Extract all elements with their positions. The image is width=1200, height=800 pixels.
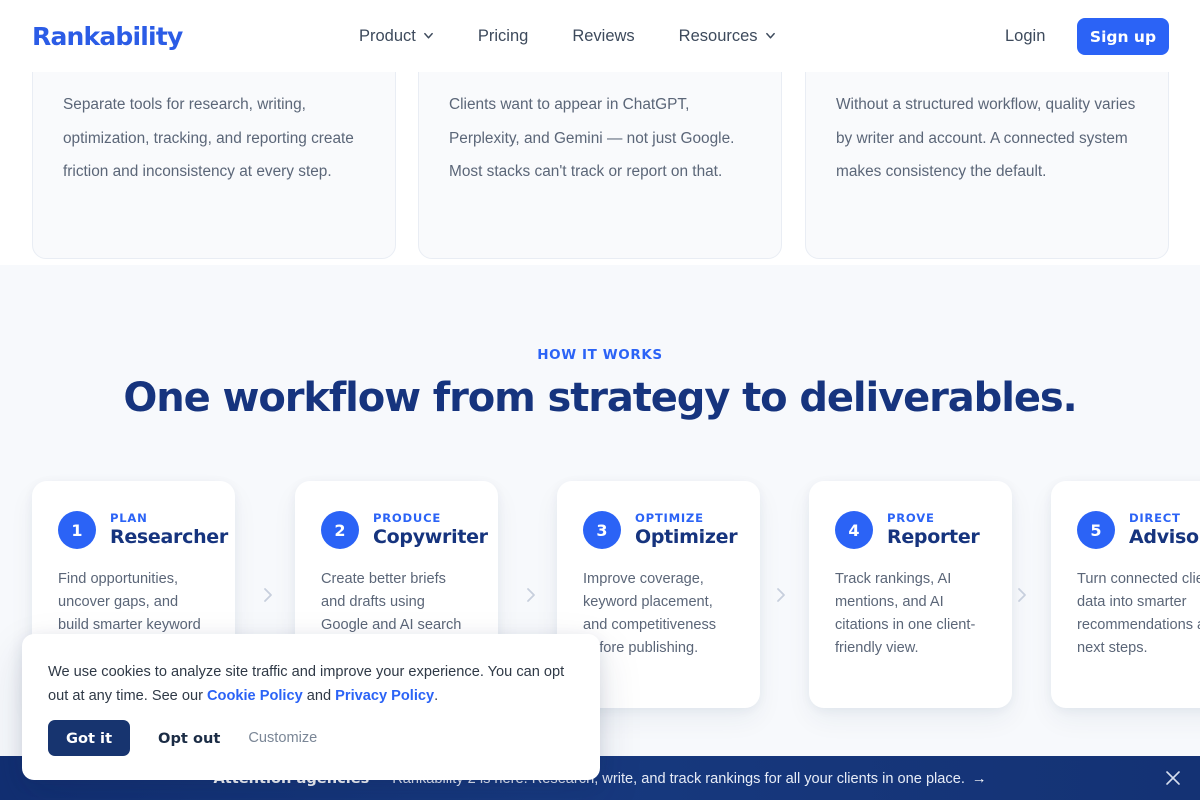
cookie-text-and: and <box>303 688 335 704</box>
site-header: Rankability Product Pricing Reviews Reso… <box>0 0 1200 72</box>
step-kicker: PROVE <box>887 513 979 525</box>
problem-card: Without a structured workflow, quality v… <box>805 72 1169 259</box>
problem-cards-section: Separate tools for research, writing, op… <box>0 72 1200 265</box>
cookie-consent-banner: We use cookies to analyze site traffic a… <box>22 634 600 780</box>
step-titles: DIRECT Advisor <box>1129 513 1200 548</box>
login-link[interactable]: Login <box>1005 27 1045 46</box>
cookie-policy-link[interactable]: Cookie Policy <box>207 688 303 704</box>
step-header: 4 PROVE Reporter <box>835 511 986 549</box>
step-name: Optimizer <box>635 528 737 547</box>
step-number-badge: 3 <box>583 511 621 549</box>
chevron-right-icon <box>258 585 278 605</box>
step-description: Track rankings, AI mentions, and AI cita… <box>835 568 986 660</box>
primary-navigation: Product Pricing Reviews Resources <box>359 27 798 46</box>
step-kicker: OPTIMIZE <box>635 513 737 525</box>
step-header: 2 PRODUCE Copywriter <box>321 511 472 549</box>
step-number-badge: 5 <box>1077 511 1115 549</box>
step-titles: PRODUCE Copywriter <box>373 513 488 548</box>
cookie-optout-button[interactable]: Opt out <box>158 730 220 747</box>
cookie-text-end: . <box>434 688 438 704</box>
privacy-policy-link[interactable]: Privacy Policy <box>335 688 434 704</box>
step-description: Turn connected client data into smarter … <box>1077 568 1200 660</box>
step-description: Create better briefs and drafts using Go… <box>321 568 472 637</box>
section-heading: One workflow from strategy to deliverabl… <box>0 375 1200 421</box>
step-name: Advisor <box>1129 528 1200 547</box>
problem-card-body: Separate tools for research, writing, op… <box>63 88 369 189</box>
close-icon[interactable] <box>1162 767 1184 789</box>
step-name: Reporter <box>887 528 979 547</box>
step-header: 1 PLAN Researcher <box>58 511 209 549</box>
step-header: 3 OPTIMIZE Optimizer <box>583 511 734 549</box>
cookie-customize-button[interactable]: Customize <box>248 730 317 746</box>
step-titles: PROVE Reporter <box>887 513 979 548</box>
cookie-consent-text: We use cookies to analyze site traffic a… <box>48 660 574 708</box>
chevron-right-icon <box>521 585 541 605</box>
chevron-down-icon <box>765 30 776 41</box>
nav-item-product[interactable]: Product <box>359 27 456 46</box>
section-eyebrow: HOW IT WORKS <box>0 347 1200 363</box>
nav-item-label: Resources <box>679 27 758 46</box>
step-number-badge: 2 <box>321 511 359 549</box>
chevron-down-icon <box>423 30 434 41</box>
step-description: Improve coverage, keyword placement, and… <box>583 568 734 660</box>
workflow-step-card[interactable]: 4 PROVE Reporter Track rankings, AI ment… <box>809 481 1012 708</box>
nav-item-label: Pricing <box>478 27 528 46</box>
chevron-right-icon <box>771 585 791 605</box>
step-titles: OPTIMIZE Optimizer <box>635 513 737 548</box>
nav-item-pricing[interactable]: Pricing <box>456 27 550 46</box>
nav-item-reviews[interactable]: Reviews <box>550 27 656 46</box>
problem-card: Clients want to appear in ChatGPT, Perpl… <box>418 72 782 259</box>
chevron-right-icon <box>1012 585 1032 605</box>
step-kicker: PLAN <box>110 513 228 525</box>
cookie-actions: Got it Opt out Customize <box>48 720 317 756</box>
brand-logo[interactable]: Rankability <box>32 22 182 51</box>
step-name: Researcher <box>110 528 228 547</box>
step-number-badge: 1 <box>58 511 96 549</box>
step-kicker: DIRECT <box>1129 513 1200 525</box>
step-description: Find opportunities, uncover gaps, and bu… <box>58 568 209 637</box>
step-titles: PLAN Researcher <box>110 513 228 548</box>
cookie-accept-button[interactable]: Got it <box>48 720 130 756</box>
step-name: Copywriter <box>373 528 488 547</box>
problem-card-body: Without a structured workflow, quality v… <box>836 88 1142 189</box>
step-header: 5 DIRECT Advisor <box>1077 511 1200 549</box>
step-number-badge: 4 <box>835 511 873 549</box>
problem-card-body: Clients want to appear in ChatGPT, Perpl… <box>449 88 755 189</box>
signup-button[interactable]: Sign up <box>1077 18 1169 55</box>
step-kicker: PRODUCE <box>373 513 488 525</box>
nav-item-label: Product <box>359 27 416 46</box>
nav-item-resources[interactable]: Resources <box>657 27 798 46</box>
workflow-step-card[interactable]: 5 DIRECT Advisor Turn connected client d… <box>1051 481 1200 708</box>
arrow-right-icon: → <box>972 771 987 787</box>
nav-item-label: Reviews <box>572 27 634 46</box>
problem-card: Separate tools for research, writing, op… <box>32 72 396 259</box>
